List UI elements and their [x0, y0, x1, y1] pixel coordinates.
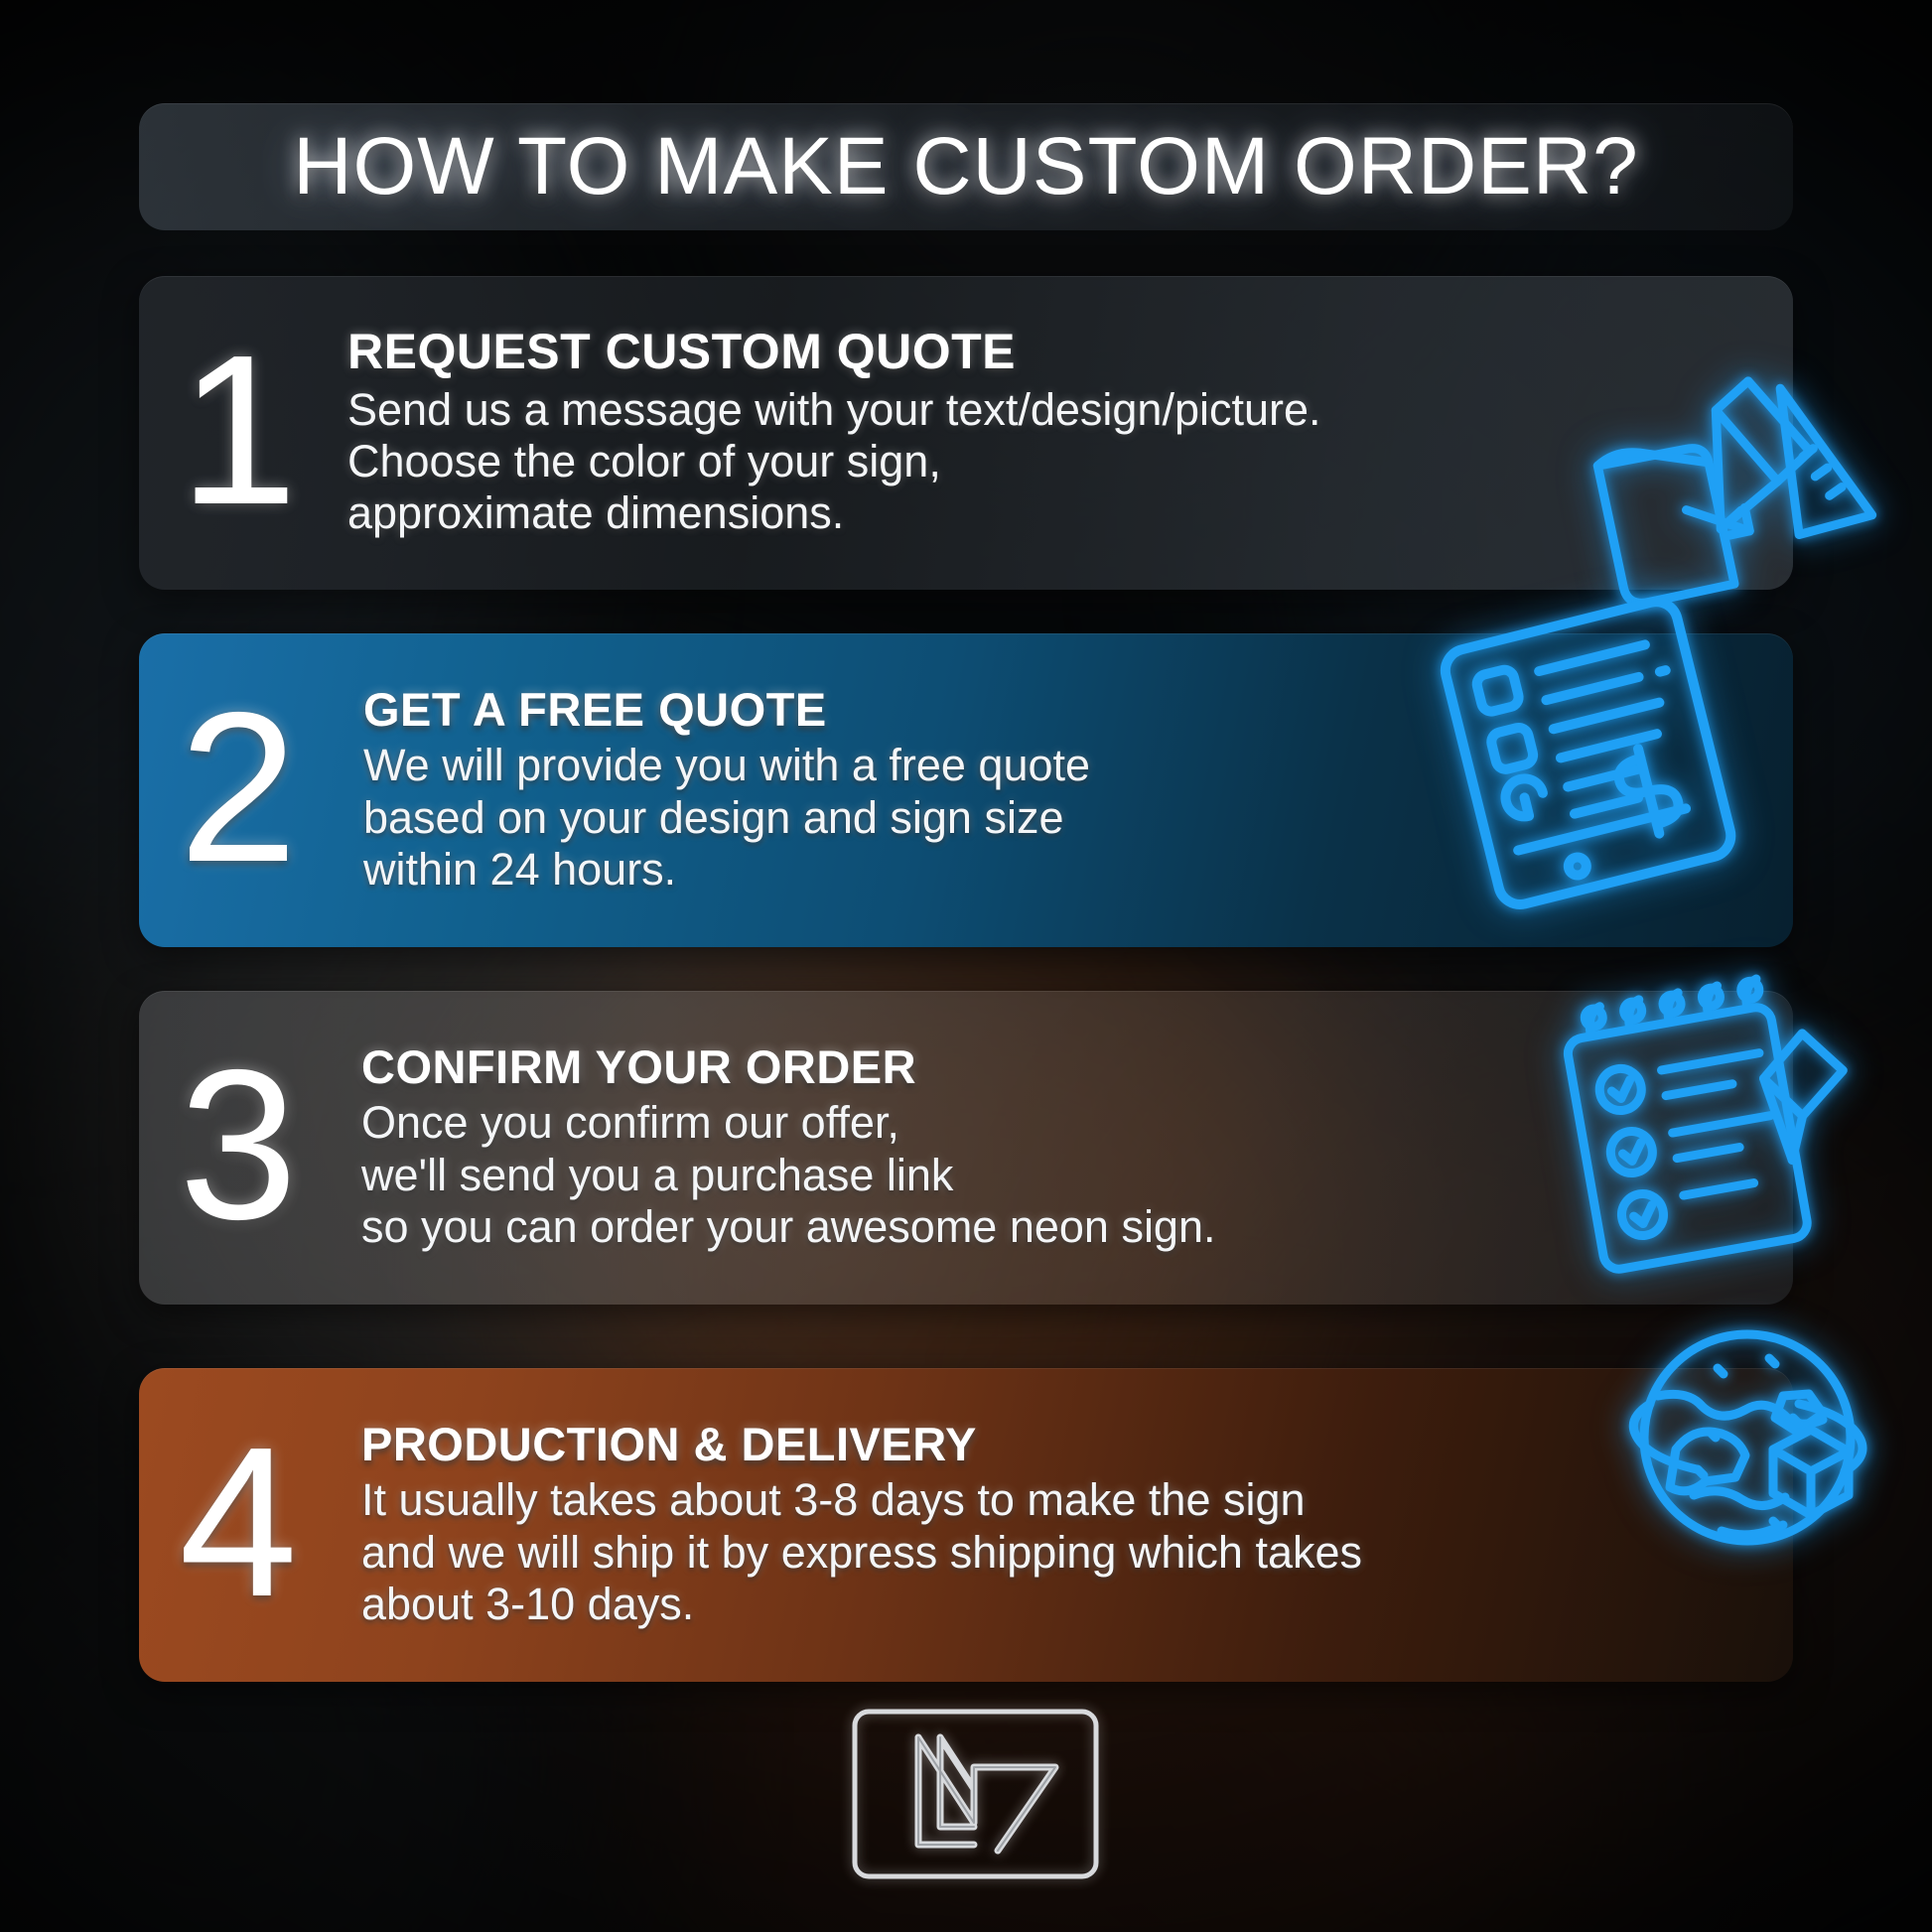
step-1-line-2: Choose the color of your sign, [347, 436, 1773, 487]
page-title: HOW TO MAKE CUSTOM ORDER? [293, 120, 1638, 213]
step-card-1: 1 REQUEST CUSTOM QUOTE Send us a message… [139, 276, 1793, 590]
step-body-2: GET A FREE QUOTE We will provide you wit… [338, 633, 1793, 947]
step-title-4: PRODUCTION & DELIVERY [361, 1420, 1773, 1468]
step-3-line-1: Once you confirm our offer, [361, 1097, 1773, 1149]
step-3-line-2: we'll send you a purchase link [361, 1150, 1773, 1201]
infographic-root: HOW TO MAKE CUSTOM ORDER? 1 REQUEST CUST… [0, 0, 1932, 1932]
step-2-line-2: based on your design and sign size [363, 792, 1773, 844]
step-title-2: GET A FREE QUOTE [363, 685, 1773, 734]
step-body-3: CONFIRM YOUR ORDER Once you confirm our … [338, 991, 1793, 1305]
step-4-line-3: about 3-10 days. [361, 1579, 1773, 1630]
step-1-line-1: Send us a message with your text/design/… [347, 384, 1773, 436]
step-4-line-2: and we will ship it by express shipping … [361, 1527, 1773, 1579]
step-description-2: We will provide you with a free quote ba… [363, 740, 1773, 896]
page-title-banner: HOW TO MAKE CUSTOM ORDER? [139, 103, 1793, 230]
step-description-4: It usually takes about 3-8 days to make … [361, 1474, 1773, 1630]
step-card-4: 4 PRODUCTION & DELIVERY It usually takes… [139, 1368, 1793, 1682]
step-description-1: Send us a message with your text/design/… [347, 384, 1773, 540]
step-number-4: 4 [139, 1368, 338, 1682]
step-2-line-1: We will provide you with a free quote [363, 740, 1773, 791]
step-card-2: 2 GET A FREE QUOTE We will provide you w… [139, 633, 1793, 947]
step-number-3: 3 [139, 991, 338, 1305]
step-title-1: REQUEST CUSTOM QUOTE [347, 326, 1773, 378]
step-body-4: PRODUCTION & DELIVERY It usually takes a… [338, 1368, 1793, 1682]
step-title-3: CONFIRM YOUR ORDER [361, 1042, 1773, 1091]
step-3-line-3: so you can order your awesome neon sign. [361, 1201, 1773, 1253]
step-body-1: REQUEST CUSTOM QUOTE Send us a message w… [338, 276, 1793, 590]
step-1-line-3: approximate dimensions. [347, 487, 1773, 539]
step-4-line-1: It usually takes about 3-8 days to make … [361, 1474, 1773, 1526]
step-card-3: 3 CONFIRM YOUR ORDER Once you confirm ou… [139, 991, 1793, 1305]
step-2-line-3: within 24 hours. [363, 844, 1773, 896]
ln-neon-monogram-logo [849, 1706, 1102, 1882]
step-description-3: Once you confirm our offer, we'll send y… [361, 1097, 1773, 1253]
step-number-1: 1 [139, 276, 338, 590]
step-number-2: 2 [139, 633, 338, 947]
